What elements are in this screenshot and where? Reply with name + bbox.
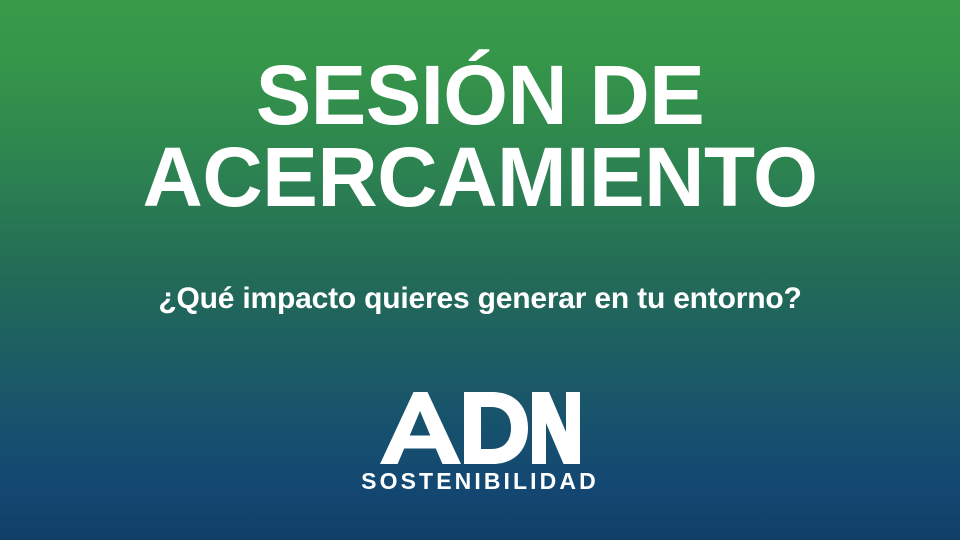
logo-wordmark: SOSTENIBILIDAD xyxy=(361,470,599,493)
title-slide: SESIÓN DE ACERCAMIENTO ¿Qué impacto quie… xyxy=(0,0,960,540)
adn-logo-icon xyxy=(380,392,580,464)
headline-line-1: SESIÓN DE xyxy=(5,56,955,134)
headline-line-2: ACERCAMIENTO xyxy=(2,138,957,216)
brand-logo: SOSTENIBILIDAD xyxy=(0,392,960,493)
page-title: SESIÓN DE ACERCAMIENTO xyxy=(0,56,960,216)
subtitle: ¿Qué impacto quieres generar en tu entor… xyxy=(0,282,960,316)
